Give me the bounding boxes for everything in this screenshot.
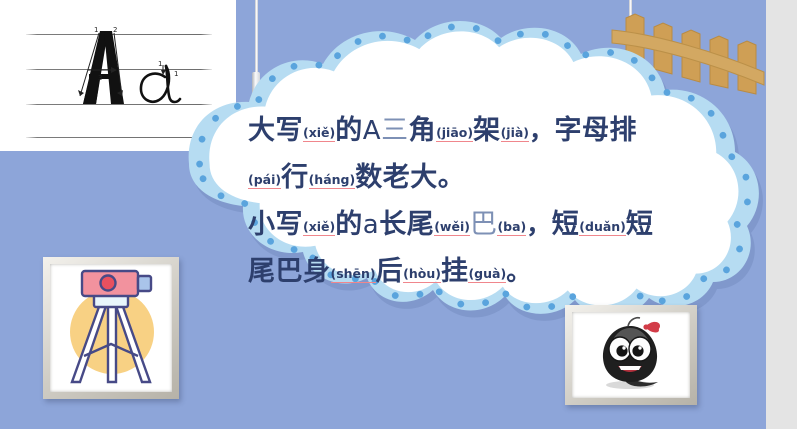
- cartoon-blob-icon: [572, 312, 690, 398]
- text-token: 长尾: [379, 209, 434, 240]
- text-token: 角: [409, 115, 437, 146]
- cloud-text-line-3: 小写(xiě)的a长尾(wěi)巴(ba)，短(duǎn)短: [248, 202, 718, 249]
- camera-tripod-photo-frame: [43, 257, 179, 399]
- cloud-text-line-1: 大写(xiě)的A三角(jiāo)架(jià)，字母排: [248, 108, 718, 155]
- text-token: 后: [376, 256, 404, 287]
- pinyin-annotation: (jiāo): [436, 125, 473, 142]
- pinyin-annotation: (guà): [468, 266, 506, 283]
- text-token: 字母排: [555, 115, 638, 146]
- camera-tripod-icon: [50, 264, 172, 392]
- svg-text:1: 1: [94, 26, 98, 34]
- pinyin-annotation: (shēn): [331, 266, 376, 283]
- text-token: 巴: [470, 209, 498, 240]
- text-token: ，: [529, 116, 555, 145]
- text-token: 尾巴身: [248, 256, 331, 287]
- svg-text:1: 1: [158, 60, 162, 68]
- text-token: 。: [506, 257, 532, 286]
- text-token: 的: [335, 209, 363, 240]
- pinyin-annotation: (duǎn): [579, 219, 626, 236]
- text-token: 小写: [248, 209, 303, 240]
- text-token: ，: [526, 210, 552, 239]
- pinyin-annotation: (wěi): [434, 219, 470, 236]
- text-token: a: [363, 210, 379, 240]
- cloud-text-block: 大写(xiě)的A三角(jiāo)架(jià)，字母排 (pái)行(háng)…: [248, 108, 718, 296]
- text-token: 行: [281, 162, 309, 193]
- text-token: 短: [552, 209, 580, 240]
- pinyin-annotation: (hòu): [403, 266, 441, 283]
- slide-canvas: 1 2 3 1 1: [0, 0, 766, 429]
- text-token: 挂: [441, 256, 469, 287]
- screenshot-root: 1 2 3 1 1: [0, 0, 797, 429]
- text-token: A: [363, 116, 381, 146]
- cartoon-blob-photo-inner: [572, 312, 690, 398]
- text-token: 三: [381, 115, 409, 146]
- pinyin-annotation: (jià): [501, 125, 529, 142]
- pinyin-annotation: (háng): [309, 172, 356, 189]
- text-token: 的: [335, 115, 363, 146]
- svg-text:3: 3: [98, 74, 102, 82]
- text-token: 大写: [248, 115, 303, 146]
- text-token: 短: [626, 209, 654, 240]
- text-token: 数老大。: [355, 162, 465, 193]
- pinyin-annotation: (xiě): [303, 125, 335, 142]
- pinyin-annotation: (xiě): [303, 219, 335, 236]
- cloud-text-line-2: (pái)行(háng)数老大。: [248, 155, 718, 202]
- pinyin-annotation: (pái): [248, 172, 281, 189]
- pinyin-annotation: (ba): [497, 219, 526, 236]
- camera-tripod-photo-inner: [50, 264, 172, 392]
- cloud-text-line-4: 尾巴身(shēn)后(hòu)挂(guà)。: [248, 249, 718, 296]
- text-token: 架: [473, 115, 501, 146]
- cartoon-blob-photo-frame: [565, 305, 697, 405]
- svg-text:2: 2: [113, 26, 117, 34]
